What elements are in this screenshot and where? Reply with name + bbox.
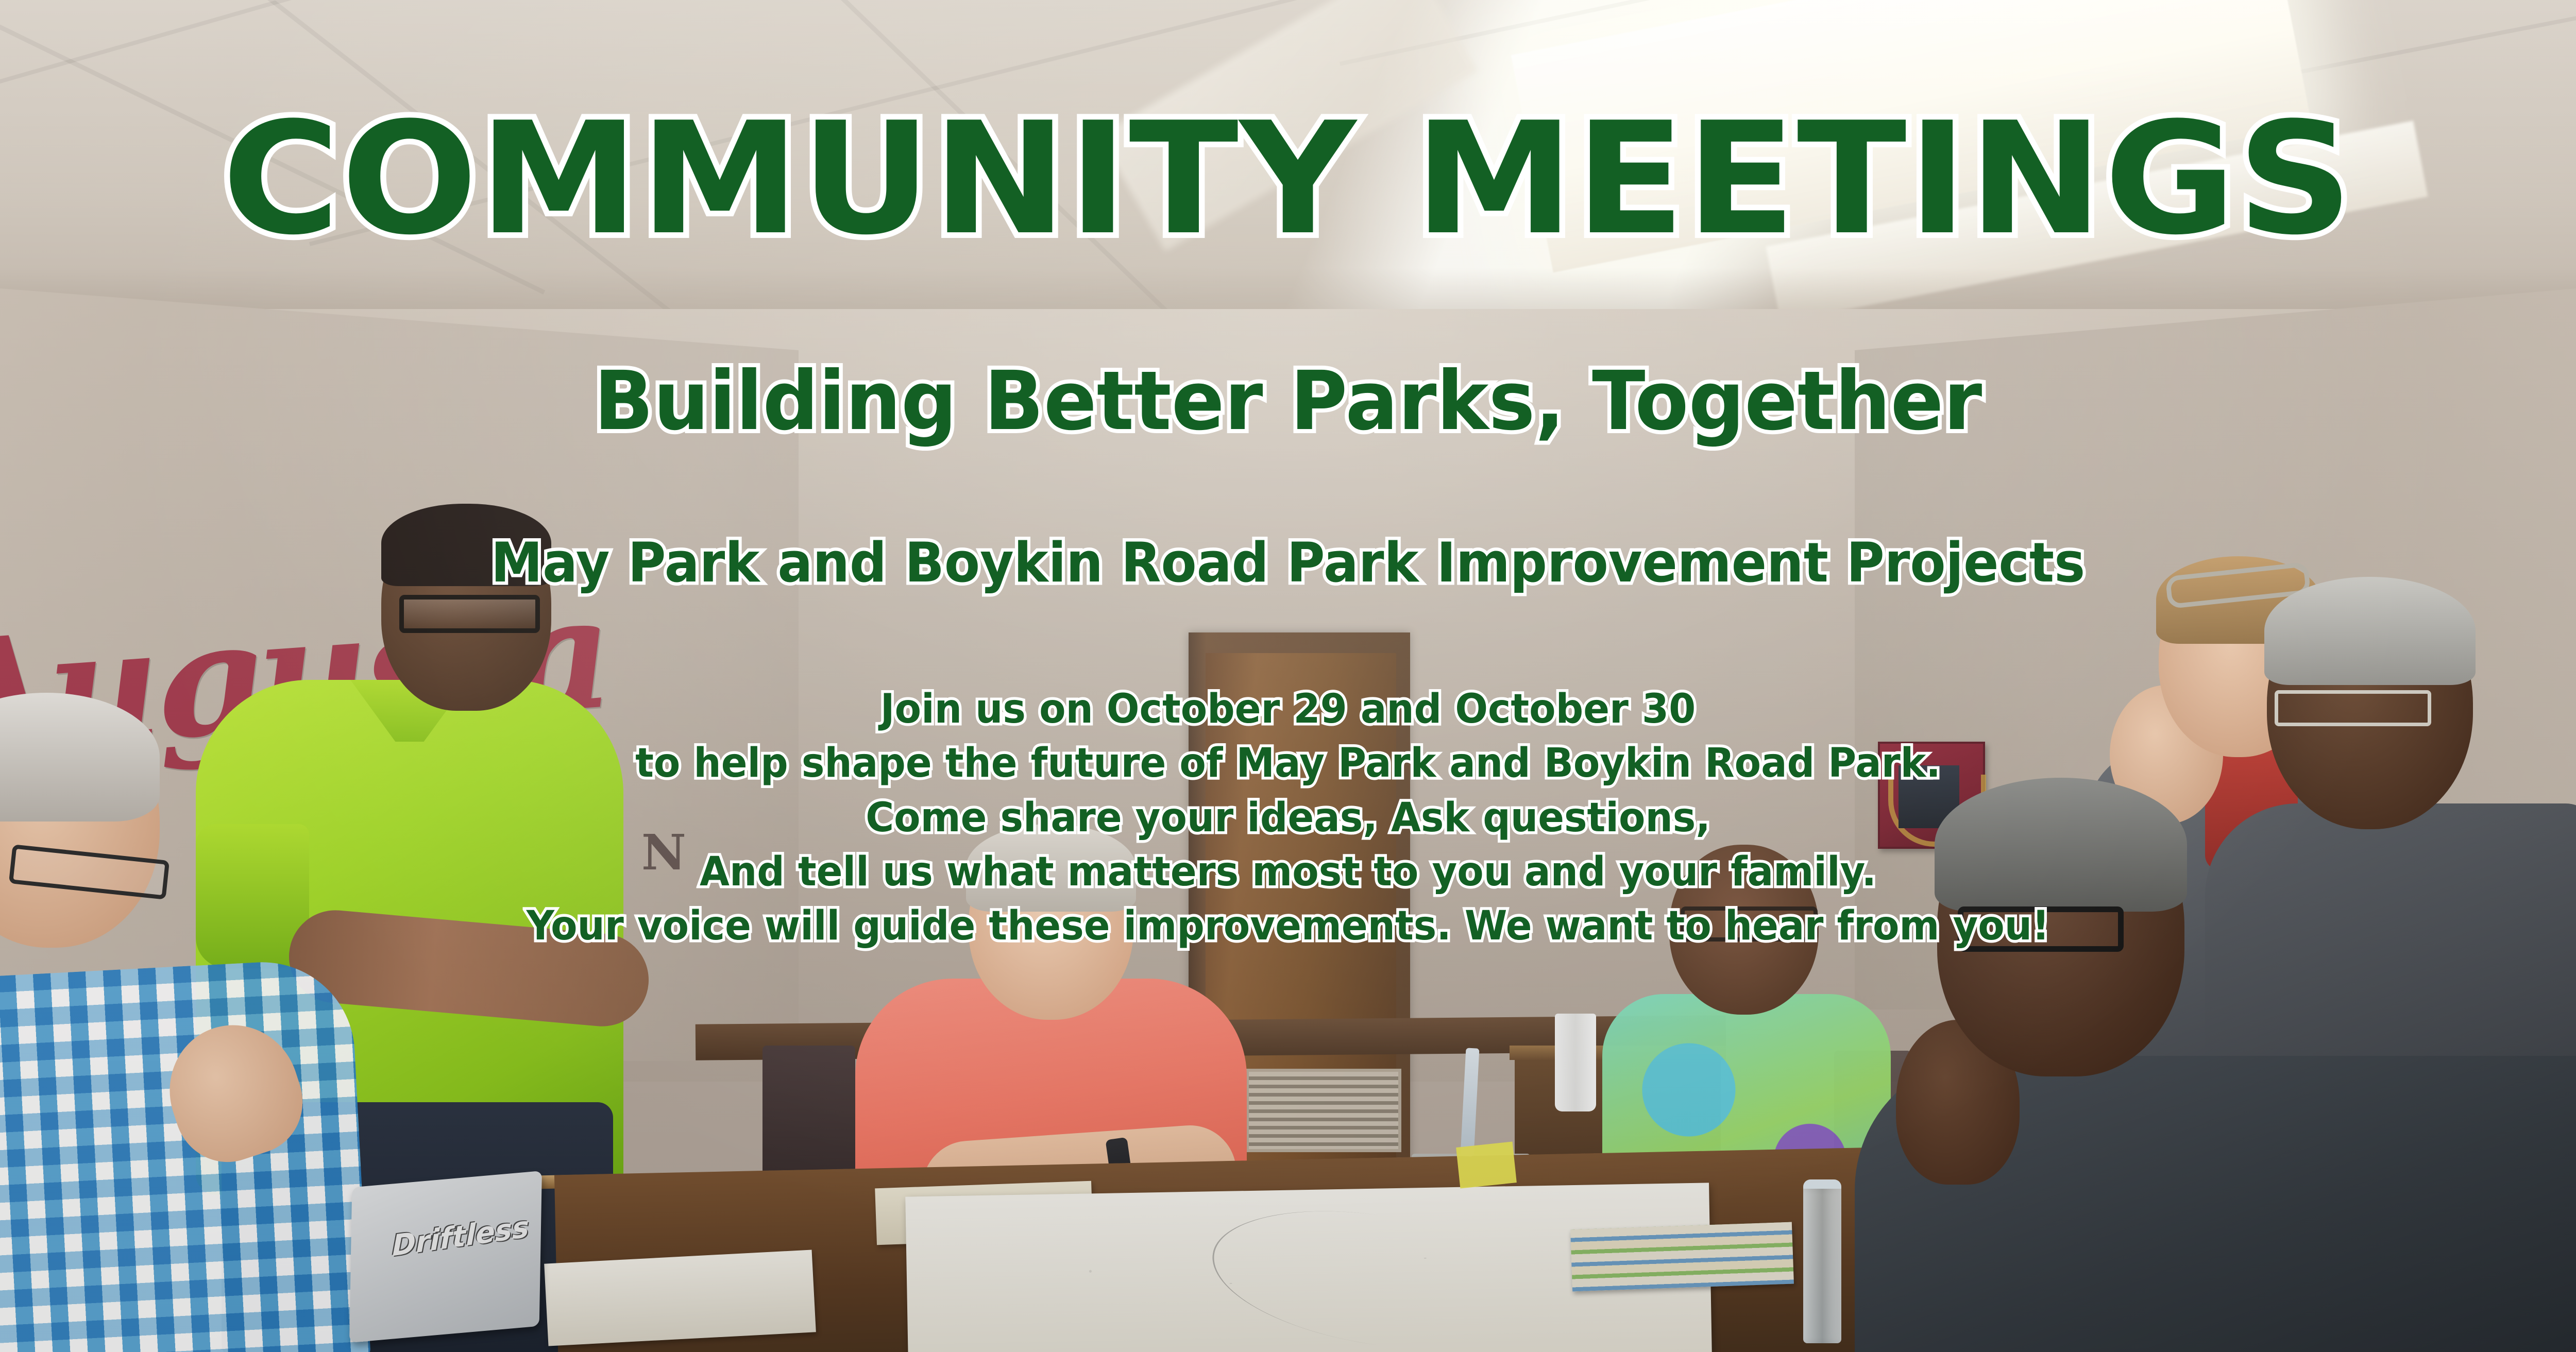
flyer-body-line-5: Your voice will guide these improvements… bbox=[52, 899, 2524, 953]
flyer-project-line: May Park and Boykin Road Park Improvemen… bbox=[64, 536, 2512, 590]
flyer-body-line-3: Come share your ideas, Ask questions, bbox=[52, 791, 2524, 845]
flyer-subheadline: Building Better Parks, Together bbox=[52, 361, 2524, 442]
text-overlay: COMMUNITY MEETINGS Building Better Parks… bbox=[0, 0, 2576, 1352]
flyer-body-line-1: Join us on October 29 and October 30 bbox=[52, 682, 2524, 737]
flyer-canvas: Augusta G P N bbox=[0, 0, 2576, 1352]
flyer-body-line-2: to help shape the future of May Park and… bbox=[52, 737, 2524, 791]
flyer-headline: COMMUNITY MEETINGS bbox=[0, 102, 2576, 256]
flyer-body-line-4: And tell us what matters most to you and… bbox=[52, 845, 2524, 899]
flyer-body-block: Join us on October 29 and October 30 to … bbox=[0, 682, 2576, 953]
